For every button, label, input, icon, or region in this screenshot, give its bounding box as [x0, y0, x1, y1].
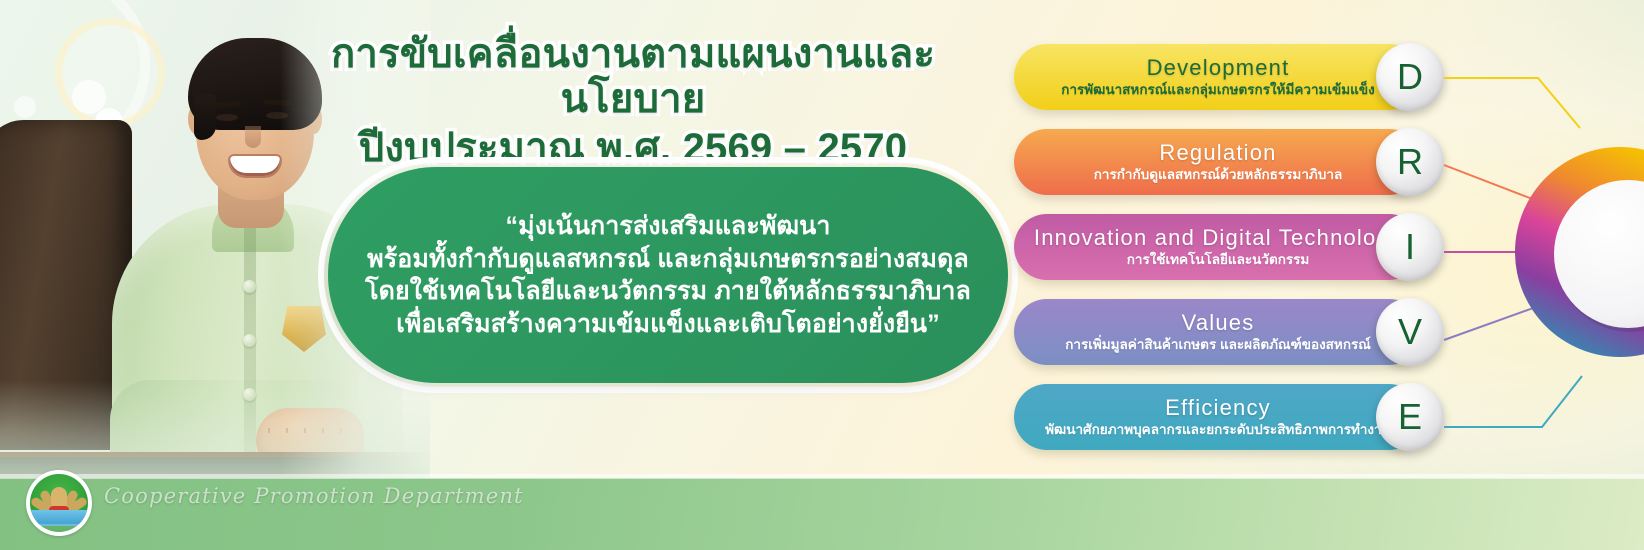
shirt-button	[243, 334, 256, 347]
pill-title-th: การพัฒนาสหกรณ์และกลุ่มเกษตรกรให้มีความเข…	[1061, 82, 1374, 98]
letter-glyph: R	[1397, 141, 1423, 183]
drive-item-innovation[interactable]: Innovation and Digital Technology การใช้…	[1014, 214, 1494, 280]
letter-glyph: E	[1398, 396, 1422, 438]
quote-line-4: เพื่อเสริมสร้างความเข้มแข็งและเติบโตอย่า…	[396, 308, 939, 341]
drive-strategy-list: Development การพัฒนาสหกรณ์และกลุ่มเกษตรก…	[1014, 40, 1494, 490]
pill-title-en: Development	[1147, 56, 1290, 80]
pill-title-th: การกำกับดูแลสหกรณ์ด้วยหลักธรรมาภิบาล	[1094, 167, 1342, 183]
pill-title-th: การเพิ่มมูลค่าสินค้าเกษตร และผลิตภัณฑ์ขอ…	[1065, 337, 1371, 353]
headline-line-1: การขับเคลื่อนงานตามแผนงานและนโยบาย	[268, 32, 998, 122]
quote-line-1: “มุ่งเน้นการส่งเสริมและพัฒนา	[506, 210, 831, 243]
cpd-emblem-logo	[26, 470, 92, 536]
pill-title-en: Efficiency	[1165, 396, 1271, 420]
connector-d	[1444, 78, 1580, 128]
person-nose	[245, 126, 261, 148]
drive-item-development[interactable]: Development การพัฒนาสหกรณ์และกลุ่มเกษตรก…	[1014, 44, 1494, 110]
pill-innovation-and-digital-technology[interactable]: Innovation and Digital Technology การใช้…	[1014, 214, 1422, 280]
drive-item-efficiency[interactable]: Efficiency พัฒนาศักยภาพบุคลากรและยกระดับ…	[1014, 384, 1494, 450]
emblem-figure	[51, 487, 67, 509]
pill-title-en: Regulation	[1159, 141, 1276, 165]
pill-title-en: Values	[1182, 311, 1255, 335]
vision-quote-bubble: “มุ่งเน้นการส่งเสริมและพัฒนา พร้อมทั้งกำ…	[328, 167, 1008, 383]
letter-glyph: V	[1398, 311, 1422, 353]
pill-regulation[interactable]: Regulation การกำกับดูแลสหกรณ์ด้วยหลักธรร…	[1014, 129, 1422, 195]
pill-efficiency[interactable]: Efficiency พัฒนาศักยภาพบุคลากรและยกระดับ…	[1014, 384, 1422, 450]
cpd-drive-banner: การขับเคลื่อนงานตามแผนงานและนโยบาย ปีงบป…	[0, 0, 1644, 550]
emblem-ring-text	[30, 524, 88, 532]
shirt-button	[243, 280, 256, 293]
drive-gradient-ring	[1430, 40, 1644, 500]
person-eye	[216, 114, 238, 121]
pill-values[interactable]: Values การเพิ่มมูลค่าสินค้าเกษตร และผลิต…	[1014, 299, 1422, 365]
pill-title-th: การใช้เทคโนโลยีและนวัตกรรม	[1127, 252, 1310, 268]
letter-glyph: I	[1405, 226, 1415, 268]
drive-item-values[interactable]: Values การเพิ่มมูลค่าสินค้าเกษตร และผลิต…	[1014, 299, 1494, 365]
emblem-inner	[30, 474, 88, 532]
quote-line-3: โดยใช้เทคโนโลยีและนวัตกรรม ภายใต้หลักธรร…	[365, 275, 971, 308]
quote-line-2: พร้อมทั้งกำกับดูแลสหกรณ์ และกลุ่มเกษตรกร…	[367, 243, 969, 276]
connector-e	[1444, 376, 1582, 427]
letter-glyph: D	[1397, 56, 1423, 98]
pill-title-en: Innovation and Digital Technology	[1034, 226, 1402, 250]
drive-item-regulation[interactable]: Regulation การกำกับดูแลสหกรณ์ด้วยหลักธรร…	[1014, 129, 1494, 195]
pill-development[interactable]: Development การพัฒนาสหกรณ์และกลุ่มเกษตรก…	[1014, 44, 1422, 110]
banner-headline: การขับเคลื่อนงานตามแผนงานและนโยบาย ปีงบป…	[268, 32, 998, 170]
pill-title-th: พัฒนาศักยภาพบุคลากรและยกระดับประสิทธิภาพ…	[1045, 422, 1391, 438]
watermark-text: Cooperative Promotion Department	[104, 484, 524, 508]
